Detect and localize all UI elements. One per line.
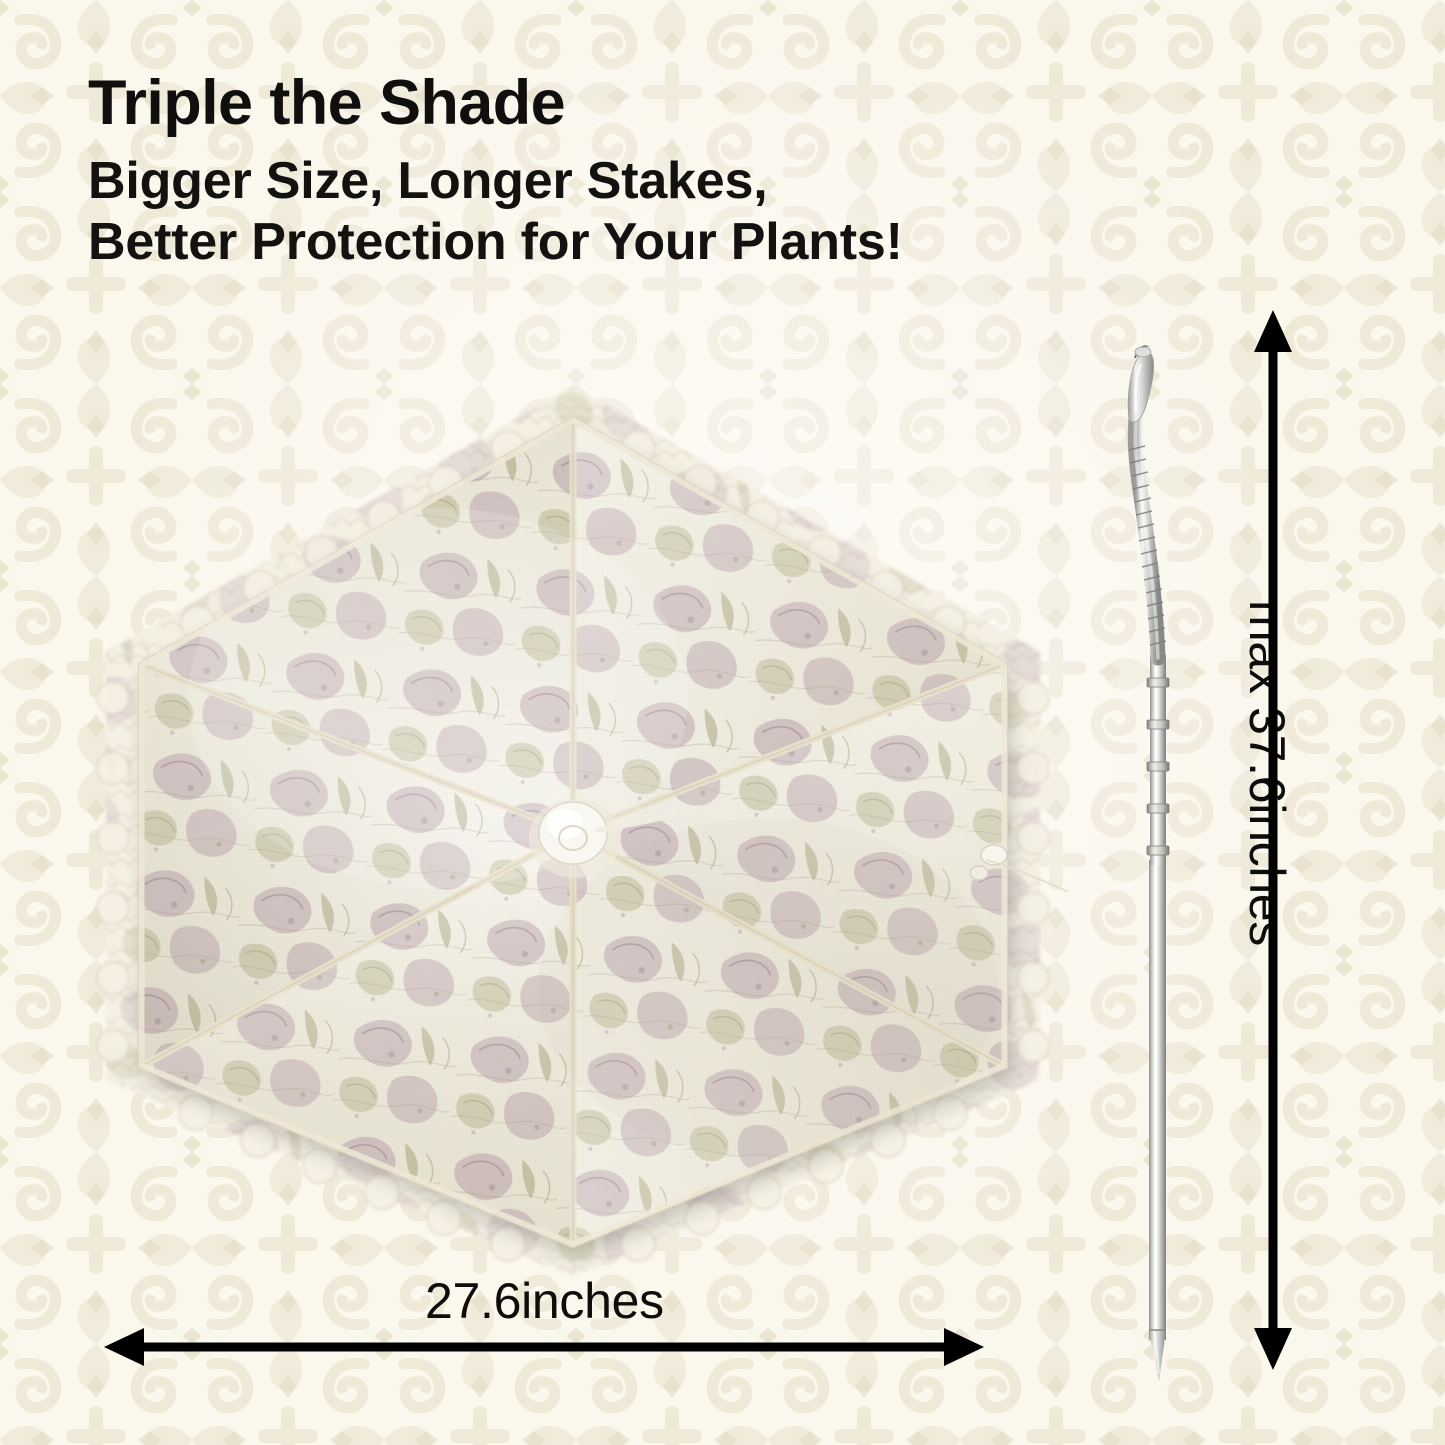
subtitle-line-1: Bigger Size, Longer Stakes, bbox=[88, 151, 1088, 212]
product-stake-image bbox=[1096, 300, 1236, 1385]
stake-main-shaft bbox=[1149, 860, 1166, 1340]
product-umbrella-image bbox=[78, 368, 1068, 1298]
stake-top-cap bbox=[1128, 345, 1153, 422]
stake-ground-tip bbox=[1149, 1330, 1166, 1382]
stake-telescoping-rings bbox=[1147, 655, 1169, 865]
stake-gooseneck bbox=[1129, 418, 1166, 658]
subtitle-line-2: Better Protection for Your Plants! bbox=[88, 212, 1088, 273]
width-dimension-arrow bbox=[104, 1325, 984, 1369]
height-dimension-arrow bbox=[1250, 310, 1296, 1370]
product-marketing-image: Triple the Shade Bigger Size, Longer Sta… bbox=[0, 0, 1445, 1445]
stake-graphic bbox=[1096, 300, 1236, 1385]
headline-block: Triple the Shade Bigger Size, Longer Sta… bbox=[88, 72, 1088, 274]
width-dimension-label: 27.6inches bbox=[425, 1272, 664, 1330]
page-title: Triple the Shade bbox=[88, 72, 1088, 135]
umbrella-canopy-graphic bbox=[78, 368, 1068, 1298]
